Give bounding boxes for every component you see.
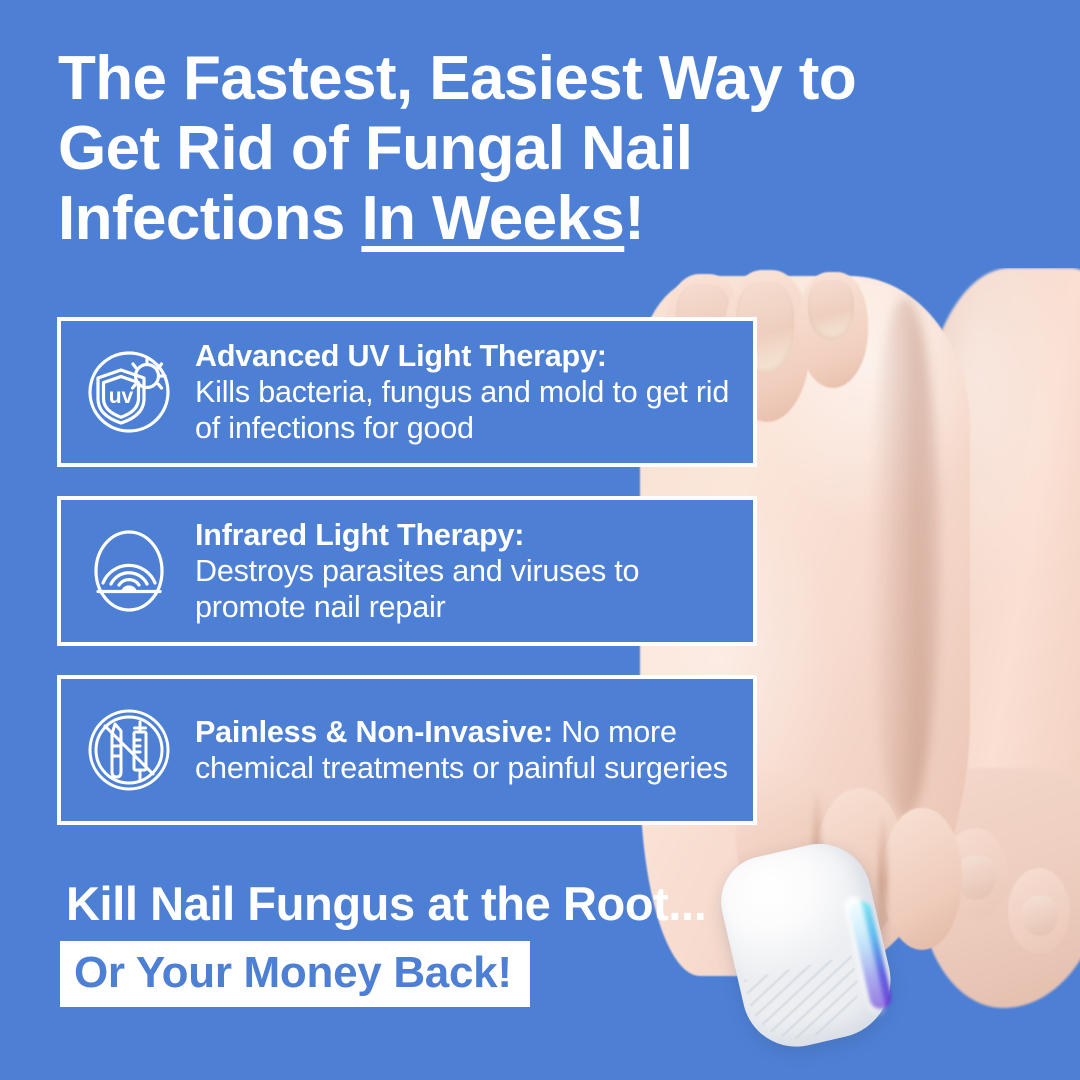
svg-text:uv: uv (109, 385, 134, 408)
cta-guarantee: Or Your Money Back! (74, 951, 512, 995)
ad-creative: The Fastest, Easiest Way to Get Rid of F… (0, 0, 1080, 1080)
cta-headline: Kill Nail Fungus at the Root... (66, 876, 706, 931)
feature-title: Advanced UV Light Therapy: (195, 339, 607, 373)
feature-title: Infrared Light Therapy: (195, 518, 524, 552)
feature-text: Advanced UV Light Therapy: Kills bacteri… (181, 338, 745, 447)
money-back-badge: Or Your Money Back! (60, 941, 530, 1007)
feature-box-infrared-therapy: Infrared Light Therapy: Destroys parasit… (57, 496, 757, 646)
upper-toenail (808, 280, 854, 340)
infrared-waves-icon (77, 519, 181, 623)
page-title: The Fastest, Easiest Way to Get Rid of F… (58, 44, 958, 254)
feature-list: uv Advanced UV Light Therapy: Kills bact… (57, 317, 757, 854)
headline-line-3-suffix: ! (624, 184, 644, 253)
back-toenail (956, 856, 996, 900)
call-to-action: Kill Nail Fungus at the Root... Or Your … (66, 876, 706, 1007)
back-toenail (1022, 896, 1058, 936)
headline-line-1: The Fastest, Easiest Way to (58, 44, 856, 113)
headline-line-3-prefix: Infections (58, 184, 361, 253)
feature-text: Painless & Non-Invasive: No more chemica… (181, 714, 745, 787)
feature-box-painless: Painless & Non-Invasive: No more chemica… (57, 675, 757, 825)
feature-box-uv-therapy: uv Advanced UV Light Therapy: Kills bact… (57, 317, 757, 467)
uv-shield-sun-icon: uv (77, 340, 181, 444)
feature-text: Infrared Light Therapy: Destroys parasit… (181, 517, 745, 626)
no-scalpel-syringe-icon (77, 698, 181, 802)
feature-body: Destroys parasites and viruses to promot… (195, 554, 639, 624)
feature-body: Kills bacteria, fungus and mold to get r… (195, 375, 729, 445)
feature-title: Painless & Non-Invasive: (195, 715, 553, 749)
headline-emphasis: In Weeks (361, 184, 624, 253)
lower-toe (882, 808, 962, 950)
headline-line-2: Get Rid of Fungal Nail (58, 114, 692, 183)
instep-shadow (870, 298, 940, 818)
